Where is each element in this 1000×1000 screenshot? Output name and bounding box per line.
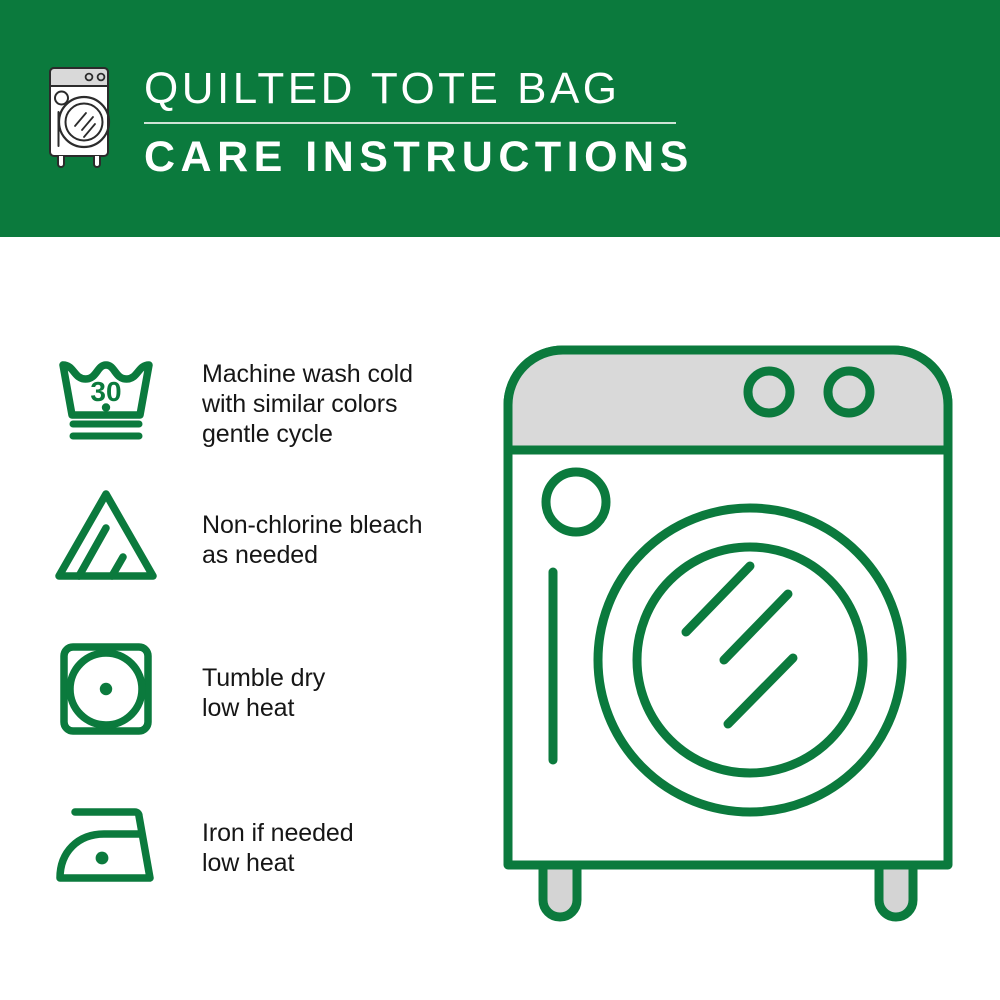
- leg-left: [543, 865, 577, 917]
- header-title-block: QUILTED TOTE BAG CARE INSTRUCTIONS: [144, 62, 694, 182]
- care-instruction-item: Non-chlorine bleach as needed: [52, 482, 422, 590]
- care-instruction-list: 30 Machine wash cold with similar colors…: [0, 237, 480, 1000]
- wash-temperature-value: 30: [90, 376, 121, 407]
- care-instruction-item: 30 Machine wash cold with similar colors…: [52, 345, 413, 453]
- page-title: QUILTED TOTE BAG: [144, 64, 694, 114]
- care-instruction-item: Iron if needed low heat: [52, 790, 354, 898]
- care-instructions-infographic: QUILTED TOTE BAG CARE INSTRUCTIONS 30: [0, 0, 1000, 1000]
- header-content: QUILTED TOTE BAG CARE INSTRUCTIONS: [44, 62, 694, 182]
- care-instruction-item: Tumble dry low heat: [52, 635, 325, 743]
- front-load-washing-machine-illustration: [488, 330, 968, 930]
- control-panel: [508, 350, 948, 450]
- care-instruction-text: Iron if needed low heat: [202, 790, 354, 878]
- care-instruction-text: Machine wash cold with similar colors ge…: [202, 345, 413, 449]
- wash-tub-30-icon: 30: [52, 345, 160, 453]
- header-banner: QUILTED TOTE BAG CARE INSTRUCTIONS: [0, 0, 1000, 237]
- bleach-triangle-striped-icon: [52, 482, 160, 590]
- iron-low-heat-icon: [52, 790, 160, 898]
- leg-right: [879, 865, 913, 917]
- care-instruction-text: Non-chlorine bleach as needed: [202, 482, 422, 570]
- tumble-dry-low-icon: [52, 635, 160, 743]
- washing-machine-icon: [44, 62, 122, 170]
- care-instruction-text: Tumble dry low heat: [202, 635, 325, 723]
- page-subtitle: CARE INSTRUCTIONS: [144, 132, 694, 182]
- title-divider: [144, 122, 676, 124]
